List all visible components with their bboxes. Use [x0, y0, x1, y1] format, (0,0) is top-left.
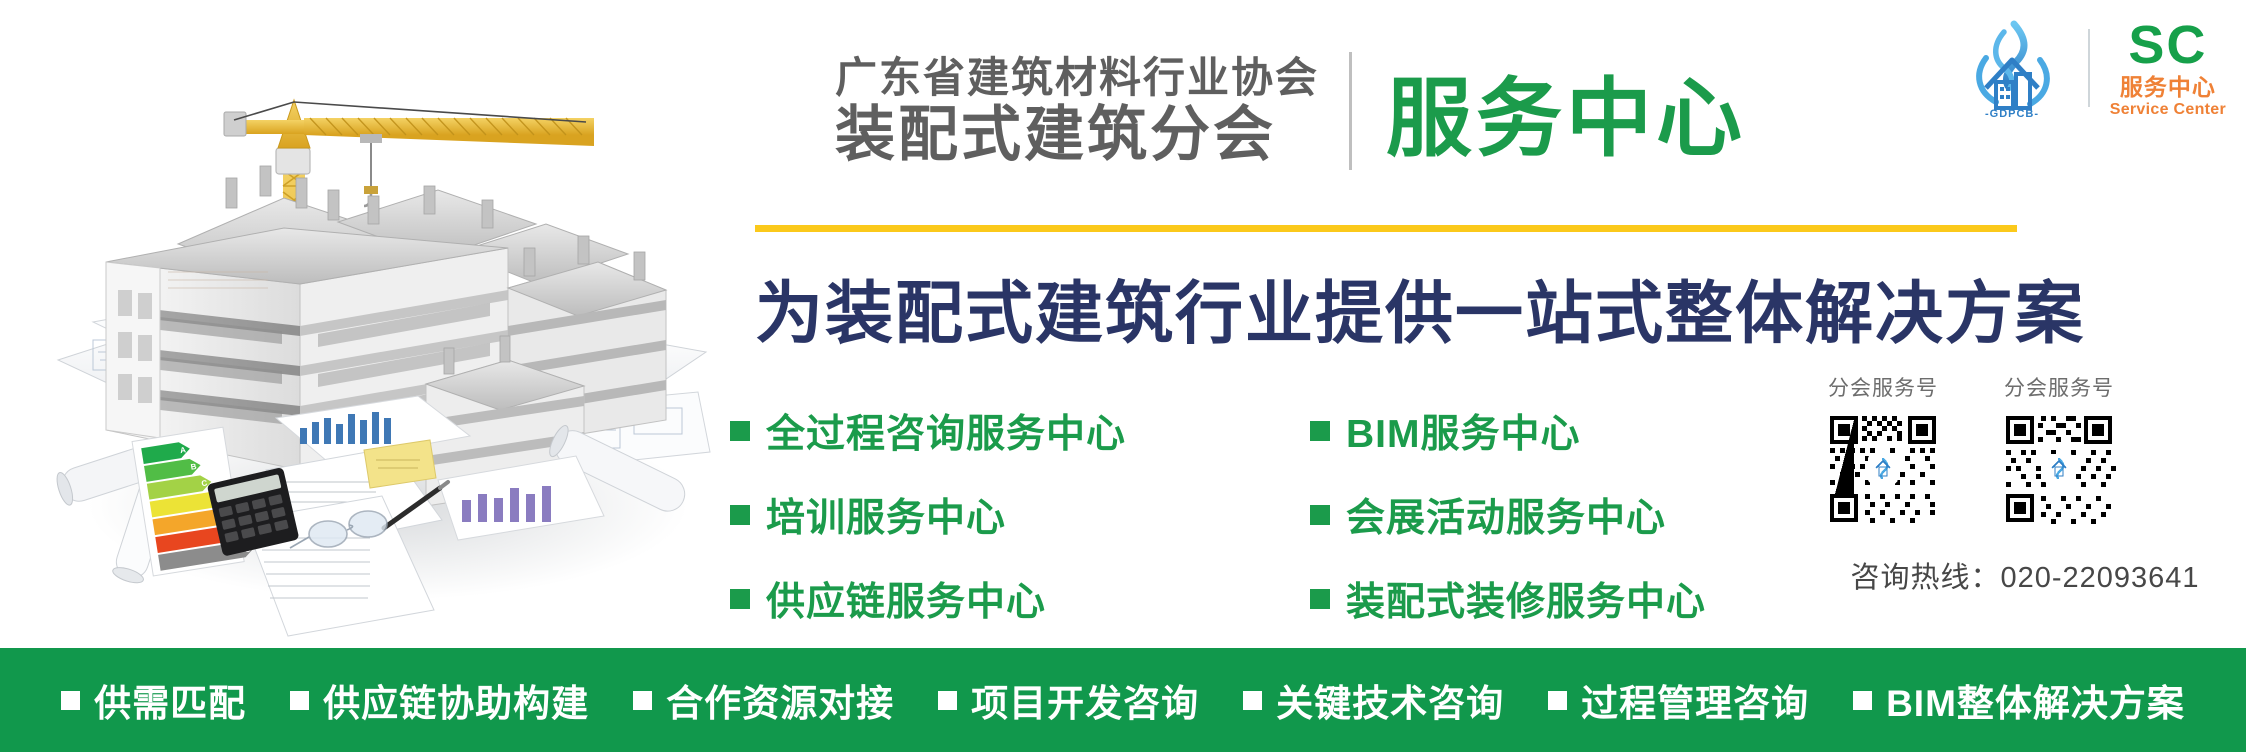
service-item[interactable]: 全过程咨询服务中心: [730, 398, 1310, 464]
bar-item[interactable]: BIM整体解决方案: [1853, 673, 2185, 727]
bar-item[interactable]: 供应链协助构建: [290, 673, 589, 727]
bar-item-label: 供需匹配: [94, 673, 246, 727]
bar-item-label: 合作资源对接: [666, 673, 894, 727]
bar-item[interactable]: 项目开发咨询: [938, 673, 1199, 727]
banner-content: 广东省建筑材料行业协会 装配式建筑分会 服务中心 为装配式建筑行业提供一站式整体…: [730, 0, 2246, 648]
gold-divider-rule: [755, 225, 2017, 232]
qr-code-image: [1824, 410, 1942, 528]
square-bullet-icon: [730, 421, 750, 441]
sc-chinese-label: 服务中心: [2120, 75, 2216, 100]
square-bullet-icon: [730, 589, 750, 609]
svg-text:-GDPCB-: -GDPCB-: [1985, 108, 2039, 120]
qr-code-image: [2000, 410, 2118, 528]
square-bullet-icon: [1548, 691, 1567, 710]
square-bullet-icon: [1310, 505, 1330, 525]
square-bullet-icon: [1853, 691, 1872, 710]
association-title: 广东省建筑材料行业协会 装配式建筑分会: [835, 57, 1319, 165]
hotline-text: 咨询热线：020-22093641: [1810, 554, 2230, 596]
qr-cell[interactable]: 分会服务号: [2000, 372, 2118, 528]
promo-banner: ABC DEF G: [0, 0, 2246, 752]
service-item-label: 培训服务中心: [766, 487, 1006, 543]
qr-caption: 分会服务号: [1828, 372, 1938, 402]
square-bullet-icon: [633, 691, 652, 710]
construction-illustration: ABC DEF G: [38, 0, 728, 650]
gdpcb-logo-icon: -GDPCB-: [1956, 16, 2068, 120]
association-branch-name: 装配式建筑分会: [835, 105, 1276, 165]
sc-english-label: Service Center: [2110, 101, 2226, 119]
bar-item-label: 项目开发咨询: [971, 673, 1199, 727]
title-divider: [1349, 52, 1352, 170]
service-item-label: BIM服务中心: [1346, 403, 1581, 459]
sc-letters: SC: [2128, 18, 2207, 72]
bar-item[interactable]: 过程管理咨询: [1548, 673, 1809, 727]
service-column-left: 全过程咨询服务中心 培训服务中心 供应链服务中心: [730, 398, 1310, 650]
service-center-logo: SC 服务中心 Service Center: [2110, 18, 2226, 119]
bottom-keyword-bar: 供需匹配 供应链协助构建 合作资源对接 项目开发咨询 关键技术咨询 过程管理咨询: [0, 648, 2246, 752]
bar-item-label: 关键技术咨询: [1276, 673, 1504, 727]
bar-item-label: 供应链协助构建: [323, 673, 589, 727]
service-item-label: 会展活动服务中心: [1346, 487, 1666, 543]
service-list: 全过程咨询服务中心 培训服务中心 供应链服务中心 BIM服务中心: [730, 398, 1910, 650]
logo-divider: [2088, 29, 2090, 107]
bar-item[interactable]: 合作资源对接: [633, 673, 894, 727]
square-bullet-icon: [61, 691, 80, 710]
bar-item[interactable]: 关键技术咨询: [1243, 673, 1504, 727]
logo-lockup[interactable]: -GDPCB- SC 服务中心 Service Center: [1956, 14, 2226, 122]
qr-contact-block: 分会服务号: [1810, 372, 2230, 596]
title-row: 广东省建筑材料行业协会 装配式建筑分会 服务中心: [835, 48, 1746, 173]
bar-item[interactable]: 供需匹配: [61, 673, 246, 727]
bar-item-label: BIM整体解决方案: [1886, 673, 2185, 727]
service-item-label: 装配式装修服务中心: [1346, 571, 1706, 627]
square-bullet-icon: [938, 691, 957, 710]
service-item-label: 全过程咨询服务中心: [766, 403, 1126, 459]
square-bullet-icon: [1310, 421, 1330, 441]
association-name-line-1: 广东省建筑材料行业协会: [835, 57, 1319, 99]
square-bullet-icon: [290, 691, 309, 710]
bar-item-label: 过程管理咨询: [1581, 673, 1809, 727]
banner-subtitle: 为装配式建筑行业提供一站式整体解决方案: [755, 258, 2085, 357]
service-item-label: 供应链服务中心: [766, 571, 1046, 627]
square-bullet-icon: [1243, 691, 1262, 710]
service-item[interactable]: 培训服务中心: [730, 482, 1310, 548]
square-bullet-icon: [730, 505, 750, 525]
square-bullet-icon: [1310, 589, 1330, 609]
qr-cell[interactable]: 分会服务号: [1824, 372, 1942, 528]
service-center-title: 服务中心: [1386, 48, 1746, 173]
qr-caption: 分会服务号: [2004, 372, 2114, 402]
service-item[interactable]: 供应链服务中心: [730, 566, 1310, 632]
